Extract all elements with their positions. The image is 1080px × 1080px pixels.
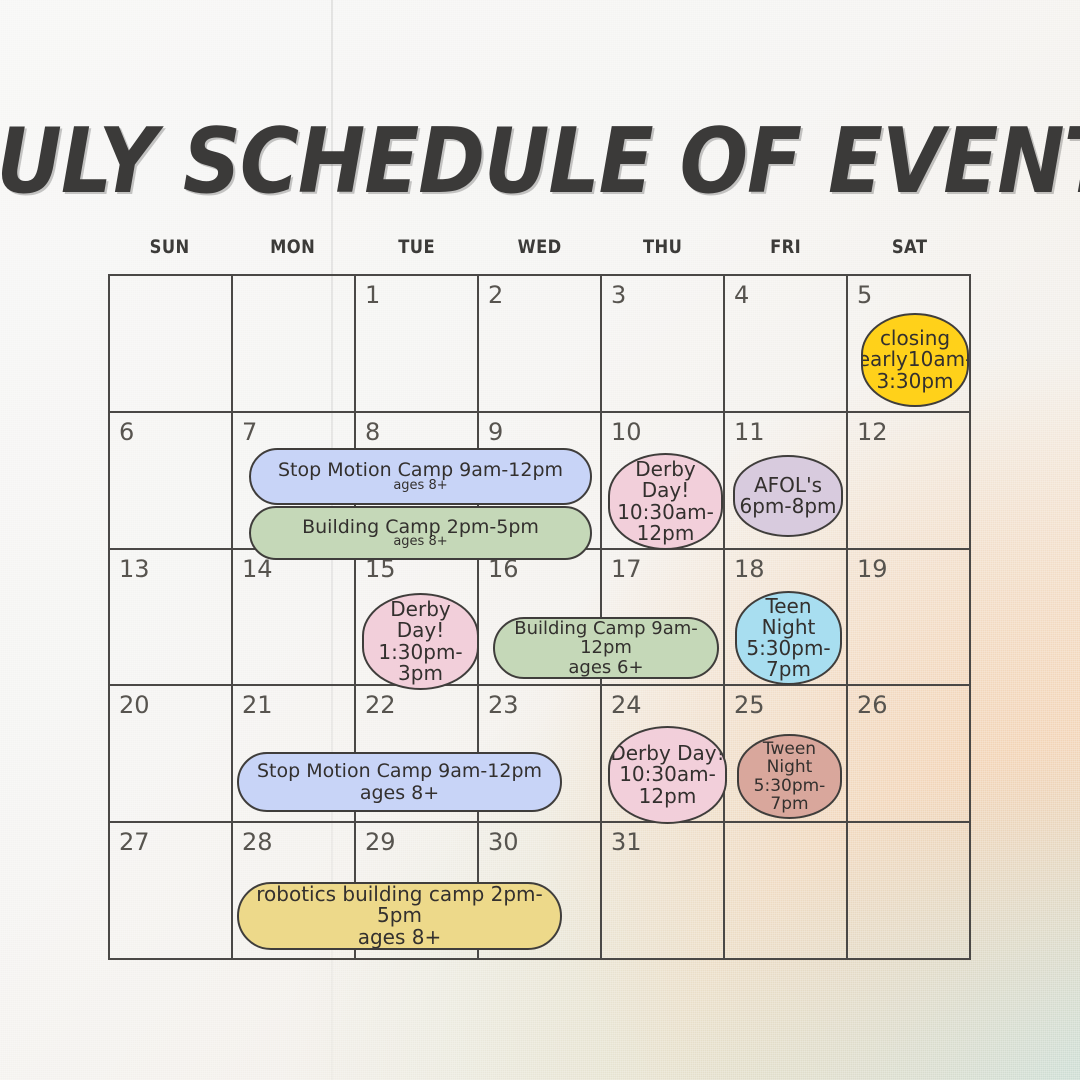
event-title: AFOL's 6pm-8pm (735, 475, 841, 517)
weekday-label-fri: FRI (733, 236, 839, 258)
event-title: Stop Motion Camp 9am-12pm (257, 761, 542, 781)
event-subtitle: ages 8+ (393, 479, 447, 493)
day-number: 18 (734, 555, 765, 583)
event-robotics-building-camp-week5[interactable]: robotics building camp 2pm-5pm ages 8+ (237, 882, 562, 950)
weekday-label-wed: WED (486, 236, 592, 258)
day-number: 21 (242, 691, 273, 719)
day-cell[interactable]: 13 (110, 550, 233, 687)
day-cell[interactable]: 14 (233, 550, 356, 687)
event-derby-day-jul15[interactable]: Derby Day! 1:30pm-3pm (362, 593, 479, 690)
event-title: Derby Day! 10:30am-12pm (610, 743, 725, 807)
event-subtitle: ages 6+ (568, 658, 643, 677)
day-number: 29 (365, 828, 396, 856)
day-number: 17 (611, 555, 642, 583)
event-subtitle: ages 8+ (393, 535, 447, 549)
day-number: 4 (734, 281, 749, 309)
page-title: JULY SCHEDULE OF EVENTS (0, 108, 1080, 213)
day-number: 31 (611, 828, 642, 856)
weekday-label-sat: SAT (856, 236, 962, 258)
day-number: 3 (611, 281, 626, 309)
event-stop-motion-camp-week4[interactable]: Stop Motion Camp 9am-12pm ages 8+ (237, 752, 562, 812)
day-number: 25 (734, 691, 765, 719)
day-cell[interactable]: 1 (356, 276, 479, 413)
day-number: 27 (119, 828, 150, 856)
day-number: 7 (242, 418, 257, 446)
day-number: 8 (365, 418, 380, 446)
day-cell[interactable]: 19 (848, 550, 971, 687)
event-title: closing early10am-3:30pm (861, 328, 969, 392)
day-number: 2 (488, 281, 503, 309)
day-cell[interactable]: 4 (725, 276, 848, 413)
event-title: Teen Night 5:30pm-7pm (737, 596, 840, 681)
day-number: 22 (365, 691, 396, 719)
day-cell[interactable]: 6 (110, 413, 233, 550)
day-number: 9 (488, 418, 503, 446)
day-number: 10 (611, 418, 642, 446)
day-cell[interactable]: 12 (848, 413, 971, 550)
day-number: 19 (857, 555, 888, 583)
event-building-camp-week3[interactable]: Building Camp 9am-12pm ages 6+ (493, 617, 719, 679)
day-number: 1 (365, 281, 380, 309)
day-number: 12 (857, 418, 888, 446)
day-number: 26 (857, 691, 888, 719)
day-cell[interactable]: 26 (848, 686, 971, 823)
day-cell[interactable]: 2 (479, 276, 602, 413)
event-title: robotics building camp 2pm-5pm (239, 884, 560, 926)
event-derby-day-jul24[interactable]: Derby Day! 10:30am-12pm (608, 726, 727, 824)
day-number: 5 (857, 281, 872, 309)
event-stop-motion-camp-week2[interactable]: Stop Motion Camp 9am-12pm ages 8+ (249, 448, 592, 505)
day-cell[interactable] (725, 823, 848, 960)
weekday-label-tue: TUE (363, 236, 469, 258)
weekday-label-sun: SUN (117, 236, 223, 258)
day-cell[interactable] (233, 276, 356, 413)
day-cell[interactable]: 3 (602, 276, 725, 413)
event-title: Tween Night 5:30pm-7pm (739, 740, 840, 812)
weekday-label-mon: MON (240, 236, 346, 258)
event-afols-jul11[interactable]: AFOL's 6pm-8pm (733, 455, 843, 537)
weekday-label-thu: THU (610, 236, 716, 258)
day-cell[interactable] (110, 276, 233, 413)
day-number: 24 (611, 691, 642, 719)
event-subtitle: ages 8+ (358, 927, 442, 948)
day-number: 23 (488, 691, 519, 719)
day-cell[interactable]: 31 (602, 823, 725, 960)
day-number: 11 (734, 418, 765, 446)
day-cell[interactable]: 20 (110, 686, 233, 823)
day-cell[interactable]: 27 (110, 823, 233, 960)
day-number: 13 (119, 555, 150, 583)
day-cell[interactable] (848, 823, 971, 960)
event-title: Derby Day! 1:30pm-3pm (364, 599, 477, 684)
event-title: Derby Day! 10:30am-12pm (610, 459, 721, 544)
weekday-header-row: SUN MON TUE WED THU FRI SAT (108, 236, 971, 258)
day-number: 20 (119, 691, 150, 719)
event-subtitle: ages 8+ (360, 783, 439, 803)
day-number: 30 (488, 828, 519, 856)
event-building-camp-week2[interactable]: Building Camp 2pm-5pm ages 8+ (249, 506, 592, 560)
event-title: Stop Motion Camp 9am-12pm (278, 460, 563, 480)
event-closing-early[interactable]: closing early10am-3:30pm (861, 313, 969, 407)
event-teen-night-jul18[interactable]: Teen Night 5:30pm-7pm (735, 591, 842, 685)
event-title: Building Camp 9am-12pm (495, 619, 717, 657)
event-derby-day-jul10[interactable]: Derby Day! 10:30am-12pm (608, 453, 723, 550)
day-number: 28 (242, 828, 273, 856)
event-tween-night-jul25[interactable]: Tween Night 5:30pm-7pm (737, 734, 842, 819)
day-number: 6 (119, 418, 134, 446)
